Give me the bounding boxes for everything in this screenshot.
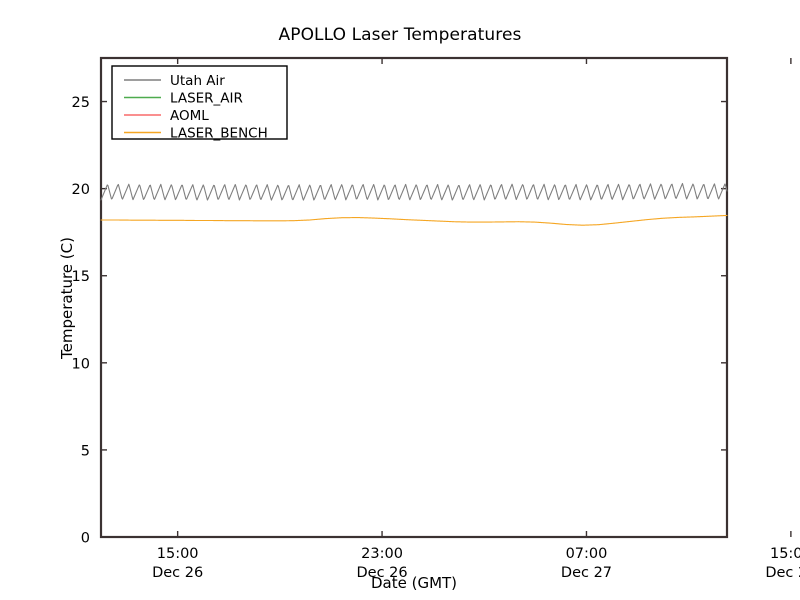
x-tick-label-date: Dec 27 (561, 565, 612, 581)
x-tick-label-time: 23:00 (361, 546, 403, 562)
x-tick-label-time: 07:00 (566, 546, 608, 562)
series-line-laser-bench (101, 215, 727, 225)
x-tick-label-date: Dec 27 (765, 565, 800, 581)
series-line-utah-air (101, 183, 727, 200)
legend-label-utah-air: Utah Air (170, 73, 225, 89)
y-tick-label: 0 (81, 531, 90, 547)
x-tick-label-time: 15:00 (157, 546, 199, 562)
x-tick-label-time: 15:00 (770, 546, 800, 562)
y-tick-label: 5 (81, 443, 90, 459)
legend-label-aoml: AOML (170, 108, 209, 124)
legend-label-laser-air: LASER_AIR (170, 91, 243, 107)
legend-label-laser-bench: LASER_BENCH (170, 126, 268, 142)
chart-figure: APOLLO Laser Temperatures 0510152025 15:… (0, 0, 800, 600)
y-axis-title: Temperature (C) (58, 237, 76, 360)
x-axis-title: Date (GMT) (371, 574, 457, 592)
y-tick-label: 25 (72, 95, 90, 111)
y-tickmarks (101, 102, 727, 537)
legend: Utah AirLASER_AIRAOMLLASER_BENCH (112, 66, 287, 142)
x-tick-label-date: Dec 26 (152, 565, 203, 581)
x-tick-labels: 15:00Dec 2623:00Dec 2607:00Dec 2715:00De… (152, 546, 800, 581)
data-series-group (101, 183, 727, 225)
y-tick-label: 20 (72, 182, 90, 198)
plot-area: 0510152025 15:00Dec 2623:00Dec 2607:00De… (0, 0, 800, 600)
